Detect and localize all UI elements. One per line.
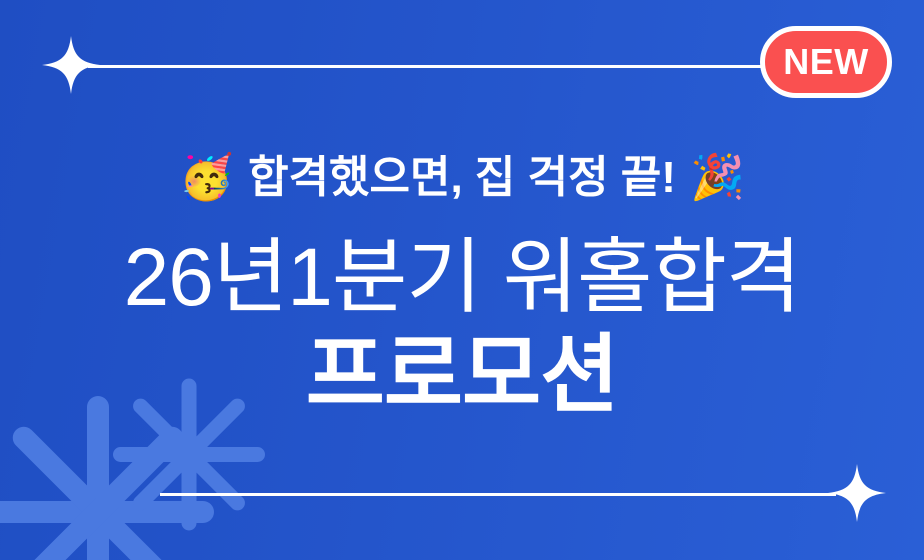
party-popper-emoji: 🎉 bbox=[690, 156, 745, 200]
headline-line-2: 프로모션 bbox=[306, 330, 618, 420]
promo-banner: NEW 🥳 합격했으면, 집 걱정 끝! 🎉 26년1분기 워홀합격 프로모션 bbox=[0, 0, 924, 560]
banner-content: 🥳 합격했으면, 집 걱정 끝! 🎉 26년1분기 워홀합격 프로모션 bbox=[0, 0, 924, 560]
partying-face-emoji: 🥳 bbox=[179, 156, 234, 200]
headline-line-1: 26년1분기 워홀합격 bbox=[124, 234, 801, 323]
eyebrow-headline: 🥳 합격했으면, 집 걱정 끝! 🎉 bbox=[179, 156, 744, 200]
eyebrow-text: 합격했으면, 집 걱정 끝! bbox=[248, 156, 676, 200]
